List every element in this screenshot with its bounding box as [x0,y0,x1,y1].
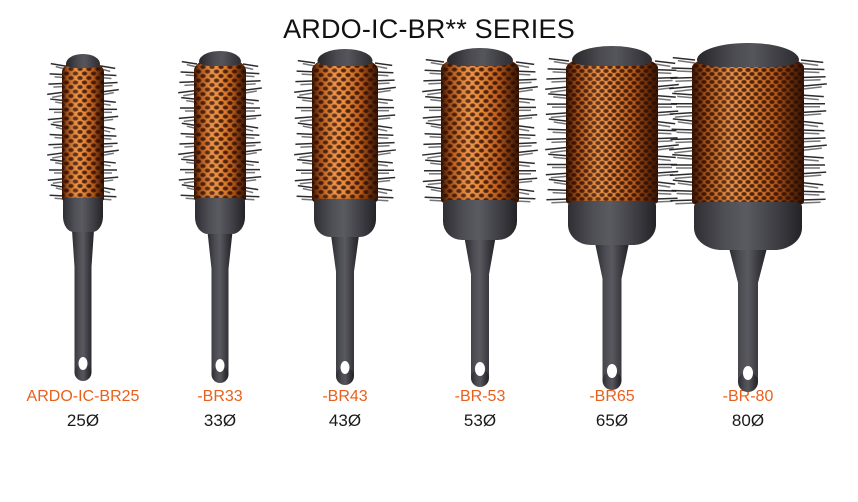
brush-handle [72,230,94,372]
brush-barrel [566,55,658,205]
handle-ferrule [443,200,517,240]
product-brush: ARDO-IC-BR2525Ø [0,0,178,442]
brush-barrel [312,57,378,203]
handle-hang-hole [341,361,350,374]
barrel-end-cap [66,54,100,68]
handle-hang-hole [475,362,485,376]
barrel-shading [62,60,104,202]
brush-barrel [62,60,104,202]
handle-ferrule [694,202,802,250]
barrel-shading [566,55,658,205]
handle-ferrule [314,199,376,237]
brush-barrel [692,54,804,206]
handle-ferrule [195,198,245,234]
barrel-end-cap [447,48,513,66]
handle-ferrule [63,198,103,232]
handle-hang-hole [79,357,88,370]
handle-hang-hole [607,364,617,378]
barrel-shading [312,57,378,203]
barrel-end-cap [572,46,652,66]
product-brush: -BR-8080Ø [653,0,843,442]
barrel-end-cap [697,43,799,67]
barrel-shading [692,54,804,206]
brush-barrel [441,56,519,204]
barrel-end-cap [199,51,241,66]
product-series-row: ARDO-IC-BR2525Ø-BR3333Ø-BR4343Ø-BR-5353Ø… [0,0,858,442]
barrel-shading [441,56,519,204]
handle-ferrule [568,201,656,245]
barrel-shading [194,58,246,202]
handle-hang-hole [216,359,225,372]
barrel-end-cap [318,49,373,66]
brush-barrel [194,58,246,202]
handle-hang-hole [743,366,753,380]
